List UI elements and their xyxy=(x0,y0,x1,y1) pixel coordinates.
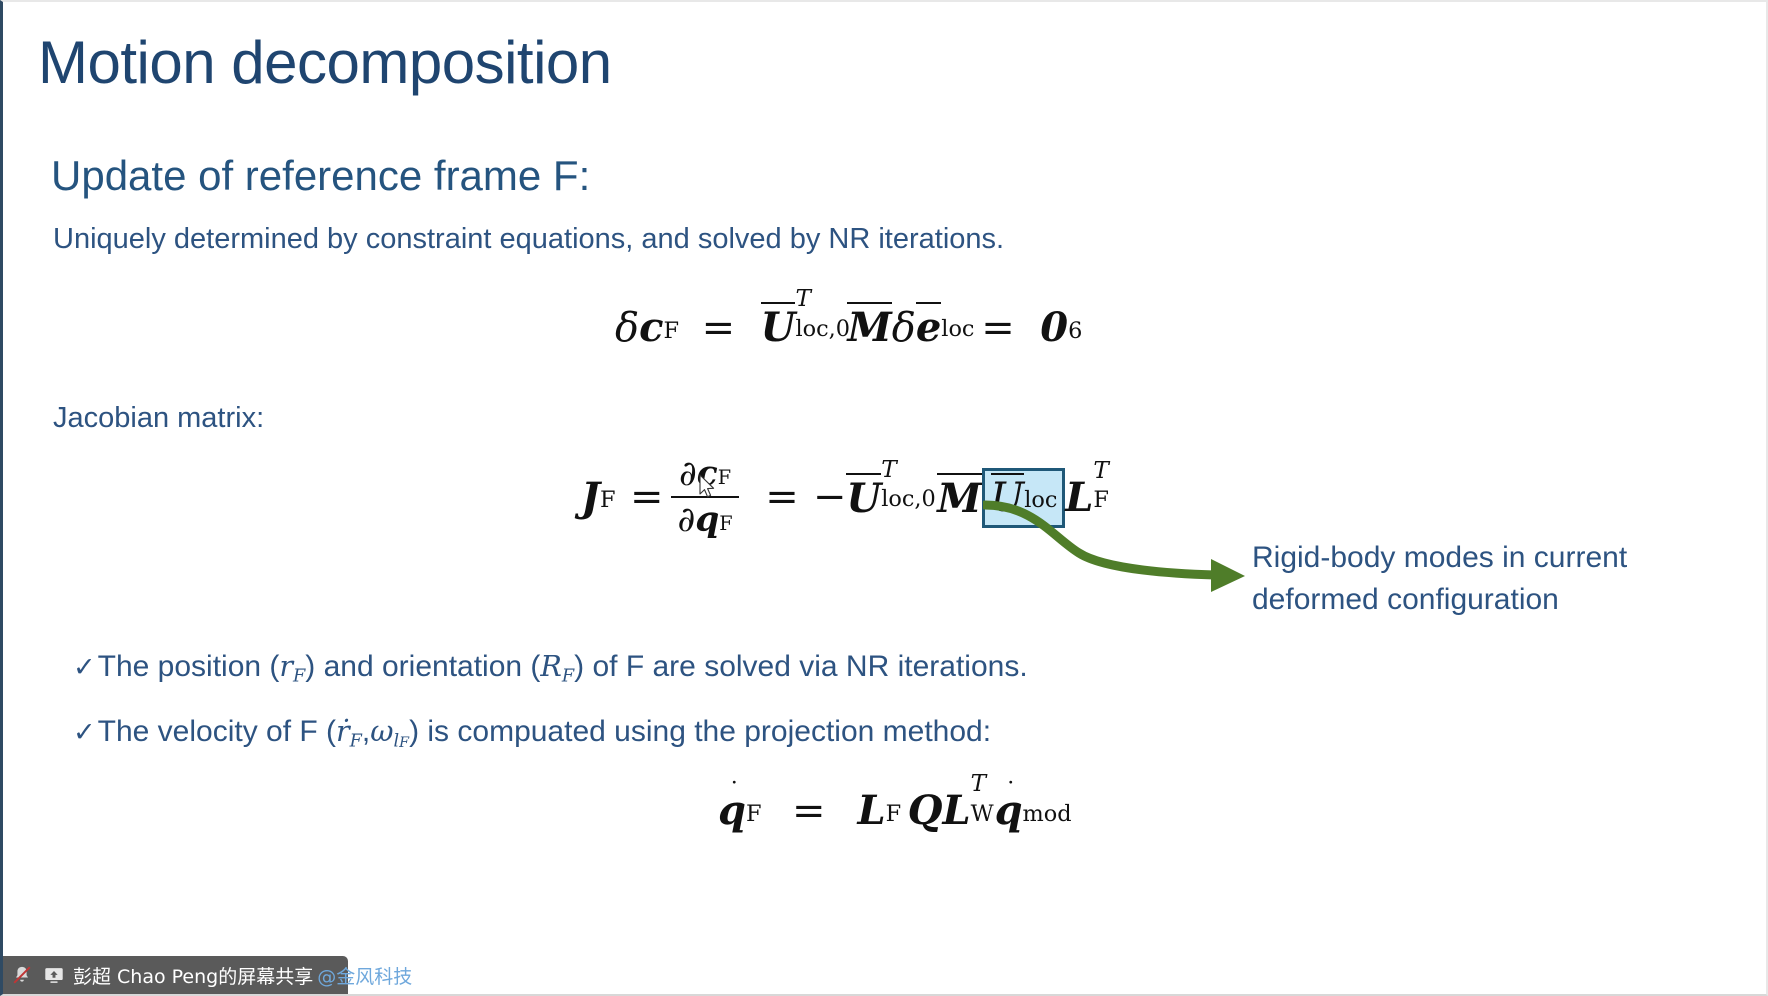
L-W-subscript: W xyxy=(971,801,994,827)
qdot-mod: q˙ xyxy=(995,787,1023,834)
screen-share-taskbar[interactable]: 彭超 Chao Peng的屏幕共享 @金风科技 xyxy=(3,956,348,994)
L-superscript-T: T xyxy=(1093,457,1108,484)
fraction-numerator: ∂cF xyxy=(673,454,738,496)
c-num-subscript: F xyxy=(718,466,731,489)
delta-symbol: δ xyxy=(615,305,639,351)
U2-subscript: loc,0 xyxy=(881,486,936,512)
equals-sign-5: = xyxy=(792,788,826,834)
L-W-matrix: L xyxy=(942,787,970,834)
jacobian-matrix-label: Jacobian matrix: xyxy=(53,399,264,437)
equals-sign-2: = xyxy=(981,305,1015,351)
equation-constraint: δcF = UTloc,0Mδeloc= 06 xyxy=(615,302,1068,351)
equals-sign-4: = xyxy=(765,474,799,520)
share-owner-label: 彭超 Chao Peng的屏幕共享 xyxy=(73,962,313,989)
callout-arrow-icon xyxy=(983,497,1263,607)
U-bar-matrix-2: U xyxy=(846,473,881,522)
callout-line-1: Rigid-body modes in current xyxy=(1252,537,1722,579)
partial-derivative-fraction: ∂cF ∂qF xyxy=(671,454,739,540)
bullet-2-text-mid: , xyxy=(362,712,370,752)
callout-text: Rigid-body modes in current deformed con… xyxy=(1252,537,1722,621)
q-den-subscript: F xyxy=(719,512,732,535)
bell-muted-icon[interactable] xyxy=(9,962,35,988)
share-org-label: @金风科技 xyxy=(317,962,412,989)
bullet-2-text-after: ) is compuated using the projection meth… xyxy=(409,712,991,752)
e-bar-vector: e xyxy=(916,302,941,351)
partial-symbol-num: ∂ xyxy=(679,454,697,494)
r-F-symbol: rF xyxy=(279,647,305,696)
omega-lF-symbol: ωlF xyxy=(370,712,409,763)
c-vector-num: c xyxy=(697,454,718,494)
bullet-1-text-mid: ) and orientation ( xyxy=(305,647,540,687)
section-heading: Update of reference frame F: xyxy=(51,150,590,202)
bullet-2-text-before: The velocity of F ( xyxy=(98,712,336,752)
bullet-1-text-before: The position ( xyxy=(98,647,280,687)
check-icon-2: ✓ xyxy=(73,713,96,753)
fraction-denominator: ∂qF xyxy=(671,498,739,540)
c-vector: c xyxy=(639,304,663,351)
q-vector-den: q xyxy=(695,500,719,540)
slide-canvas: Motion decomposition Update of reference… xyxy=(0,0,1768,996)
R-F-symbol: RF xyxy=(540,647,574,696)
bullet-item-velocity: ✓The velocity of F (ṙF,ωlF) is compuate… xyxy=(73,712,991,763)
U-superscript-T: T xyxy=(795,285,810,312)
partial-symbol-den: ∂ xyxy=(677,500,695,540)
zero-subscript: 6 xyxy=(1068,318,1082,344)
bullet-item-position: ✓The position (rF) and orientation (RF) … xyxy=(73,647,1028,696)
U2-superscript-T: T xyxy=(881,456,896,483)
c-subscript: F xyxy=(663,318,679,344)
page-title: Motion decomposition xyxy=(38,28,612,98)
L-W-superscript-T: T xyxy=(971,770,986,797)
minus-sign: − xyxy=(813,474,847,520)
intro-paragraph: Uniquely determined by constraint equati… xyxy=(53,220,1004,258)
M-bar-matrix-2: M xyxy=(937,473,981,522)
J-subscript: F xyxy=(600,487,616,513)
M-bar-matrix: M xyxy=(847,302,891,351)
bullet-1-text-after: ) of F are solved via NR iterations. xyxy=(574,647,1028,687)
U-bar-matrix: U xyxy=(761,302,796,351)
check-icon: ✓ xyxy=(73,648,96,688)
U-subscript: loc,0 xyxy=(795,316,850,342)
delta-symbol-2: δ xyxy=(892,305,916,351)
callout-line-2: deformed configuration xyxy=(1252,579,1722,621)
equation-velocity: q˙F=LFQLTWq˙mod xyxy=(718,787,1023,834)
equals-sign: = xyxy=(702,305,736,351)
rdot-F-symbol: ṙF xyxy=(336,712,362,761)
L-F-matrix: L xyxy=(857,787,885,834)
L-F-subscript: F xyxy=(886,801,902,827)
qdot-F: q˙ xyxy=(718,787,746,834)
e-subscript: loc xyxy=(941,316,974,342)
zero-vector: 0 xyxy=(1040,304,1068,351)
qdot-F-subscript: F xyxy=(746,801,762,827)
screen-share-icon[interactable] xyxy=(41,962,67,988)
J-matrix: J xyxy=(581,474,600,521)
Q-matrix: Q xyxy=(908,787,943,834)
qdot-mod-subscript: mod xyxy=(1023,801,1072,827)
equals-sign-3: = xyxy=(630,474,664,520)
